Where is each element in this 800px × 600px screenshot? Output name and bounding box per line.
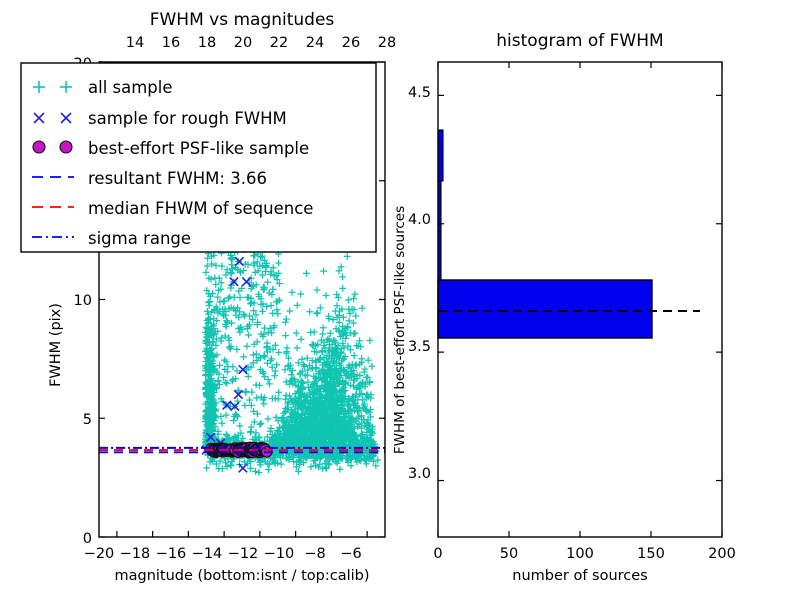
data-point [320, 324, 327, 331]
scatter-data-layer [99, 241, 385, 476]
data-point [339, 273, 346, 280]
data-point [233, 346, 240, 353]
top-tick-label: 20 [234, 35, 252, 51]
x-tick-label: 200 [708, 546, 736, 562]
y-tick-label: 3.5 [408, 339, 431, 355]
data-point [237, 294, 244, 301]
data-point [258, 420, 265, 427]
histogram-bar [438, 130, 443, 181]
data-point [252, 468, 259, 475]
data-point [212, 275, 219, 282]
data-point [223, 431, 230, 438]
data-point [259, 272, 266, 279]
data-point [203, 269, 210, 276]
top-tick-label: 18 [198, 35, 216, 51]
left-plot-title: FWHM vs magnitudes [150, 10, 335, 30]
data-point [352, 313, 359, 320]
data-point [223, 412, 230, 419]
x-tick-label: −8 [304, 546, 325, 562]
data-point [239, 464, 247, 472]
right-y-tick-labels: 3.0 3.5 4.0 4.5 [408, 85, 431, 482]
right-y-axis-label: FWHM of best-effort PSF-like sources [392, 206, 408, 454]
left-y-axis-label: FWHM (pix) [48, 303, 64, 387]
data-point [297, 291, 304, 298]
data-point [275, 349, 282, 356]
data-point [293, 330, 300, 337]
legend-label: sigma range [88, 229, 191, 248]
y-tick-label: 5 [83, 412, 92, 428]
data-point [283, 348, 290, 355]
data-point [348, 462, 355, 469]
data-point [337, 466, 344, 473]
left-top-tick-labels: 14 16 18 20 22 24 26 28 [126, 35, 396, 51]
data-point [332, 308, 339, 315]
x-tick-label: 50 [500, 546, 518, 562]
data-point [309, 341, 316, 348]
data-point [240, 353, 247, 360]
data-point [311, 329, 318, 336]
data-point [323, 292, 330, 299]
data-point [256, 469, 263, 476]
data-point [350, 330, 357, 337]
data-point [243, 388, 250, 395]
data-point [264, 279, 271, 286]
x-tick-label: −10 [264, 546, 295, 562]
data-point [339, 285, 346, 292]
data-point [282, 332, 289, 339]
data-point [274, 310, 281, 317]
legend-label: median FHWM of sequence [88, 199, 313, 218]
matplotlib-figure: FWHM vs magnitudes 14 16 18 20 22 24 26 … [0, 0, 800, 600]
data-point [273, 298, 280, 305]
data-point [261, 325, 268, 332]
data-point [266, 380, 273, 387]
data-point [359, 305, 366, 312]
data-point [351, 291, 358, 298]
data-point [213, 262, 220, 269]
data-point [282, 319, 289, 326]
data-point [276, 297, 283, 304]
data-point [306, 308, 313, 315]
y-tick-label: 4.0 [408, 212, 431, 228]
data-point [313, 310, 320, 317]
data-point [221, 357, 228, 364]
data-point [231, 294, 238, 301]
data-point [268, 302, 275, 309]
data-point [236, 423, 243, 430]
data-point [229, 265, 236, 272]
data-point [230, 417, 237, 424]
data-point [218, 263, 225, 270]
x-tick-label: 100 [566, 546, 594, 562]
data-point [327, 330, 334, 337]
data-point [353, 342, 360, 349]
left-bottom-tick-labels: −20 −18 −16 −14 −12 −10 −8 −6 [84, 546, 362, 562]
data-point [347, 382, 354, 389]
legend-label: resultant FWHM: 3.66 [88, 169, 267, 188]
right-plot-title: histogram of FWHM [496, 31, 663, 51]
data-point [366, 337, 373, 344]
figure-canvas: FWHM vs magnitudes 14 16 18 20 22 24 26 … [0, 0, 800, 600]
legend-box[interactable]: all sample sample for rough FWHM best-ef… [21, 63, 376, 252]
right-x-tick-labels: 0 50 100 150 200 [433, 546, 735, 562]
data-point [203, 464, 210, 471]
data-point [271, 372, 278, 379]
x-tick-label: −6 [340, 546, 361, 562]
data-point [320, 268, 327, 275]
x-tick-label: −18 [120, 546, 151, 562]
top-tick-label: 14 [126, 35, 144, 51]
data-point [242, 389, 249, 396]
x-tick-label: −12 [228, 546, 259, 562]
data-point [206, 298, 213, 305]
data-point [241, 312, 248, 319]
y-tick-label: 10 [74, 293, 92, 309]
legend-label: best-effort PSF-like sample [88, 139, 309, 158]
data-point [294, 302, 301, 309]
data-point [270, 286, 277, 293]
top-tick-label: 24 [306, 35, 324, 51]
data-point [228, 462, 235, 469]
data-point [314, 287, 321, 294]
data-point [263, 344, 270, 351]
data-point [345, 297, 352, 304]
data-point [275, 260, 282, 267]
data-point [248, 389, 255, 396]
top-tick-label: 16 [162, 35, 180, 51]
legend-label: sample for rough FWHM [88, 109, 287, 128]
data-point [265, 415, 272, 422]
data-point [308, 463, 315, 470]
data-point [218, 413, 225, 420]
x-tick-label: −20 [84, 546, 115, 562]
data-point [245, 332, 252, 339]
data-point [294, 345, 301, 352]
data-point [289, 289, 296, 296]
series-all-sample [202, 241, 381, 476]
legend-label: all sample [88, 78, 173, 97]
data-point [356, 337, 363, 344]
data-point [242, 402, 249, 409]
data-point [245, 373, 252, 380]
data-point [256, 382, 263, 389]
data-point [273, 306, 280, 313]
left-x-axis-label: magnitude (bottom:isnt / top:calib) [114, 568, 369, 584]
top-tick-label: 28 [378, 35, 396, 51]
data-point [365, 357, 372, 364]
x-tick-label: −14 [192, 546, 223, 562]
data-point [278, 461, 285, 468]
data-point [216, 362, 223, 369]
top-tick-label: 26 [342, 35, 360, 51]
y-tick-label: 0 [83, 531, 92, 547]
circle-icon [60, 141, 72, 153]
data-point [299, 356, 306, 363]
data-point [219, 420, 226, 427]
y-tick-label: 3.0 [408, 466, 431, 482]
histogram-bar [438, 280, 652, 338]
data-point [259, 308, 266, 315]
data-point [303, 270, 310, 277]
x-tick-label: −16 [156, 546, 187, 562]
x-tick-label: 150 [637, 546, 665, 562]
data-point [244, 343, 251, 350]
data-point [215, 378, 222, 385]
right-panel-histogram: histogram of FWHM 3.0 3.5 4.0 4.5 0 50 [392, 31, 736, 584]
data-point [283, 392, 290, 399]
x-tick-label: 0 [433, 546, 442, 562]
data-point [350, 295, 357, 302]
data-point [247, 428, 254, 435]
y-tick-label: 4.5 [408, 85, 431, 101]
data-point [205, 299, 212, 306]
data-point [298, 336, 305, 343]
data-point [275, 389, 282, 396]
top-tick-label: 22 [270, 35, 288, 51]
data-point [247, 300, 254, 307]
data-point [229, 363, 236, 370]
data-point [344, 253, 351, 260]
data-point [351, 352, 358, 359]
data-point [253, 394, 260, 401]
data-point [283, 316, 290, 323]
data-point [260, 400, 267, 407]
circle-icon [33, 141, 45, 153]
data-point [212, 281, 219, 288]
data-point [265, 466, 272, 473]
data-point [340, 314, 347, 321]
data-point [286, 308, 293, 315]
data-point [319, 331, 326, 338]
data-point [288, 371, 295, 378]
data-point [206, 302, 213, 309]
data-point [369, 363, 376, 370]
histogram-bars [438, 130, 652, 338]
data-point [228, 270, 235, 277]
data-point [223, 358, 230, 365]
right-x-axis-label: number of sources [512, 568, 648, 584]
